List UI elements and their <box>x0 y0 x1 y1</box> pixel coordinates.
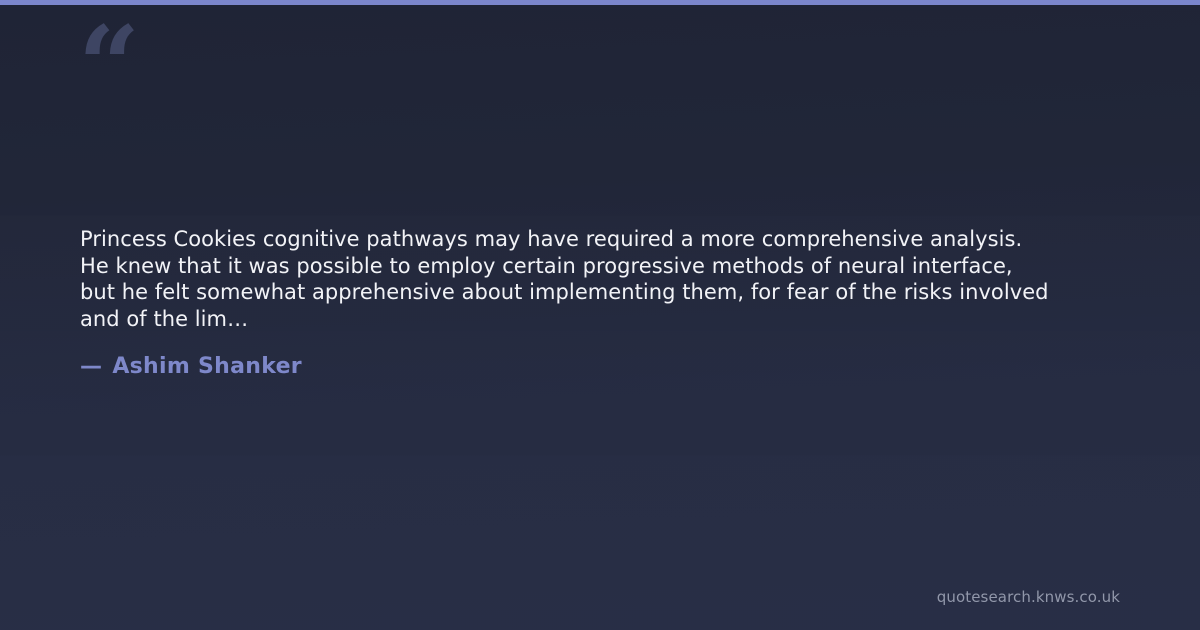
attribution-dash: — <box>80 354 102 379</box>
quote-card: “ Princess Cookies cognitive pathways ma… <box>0 0 1200 630</box>
top-accent-bar <box>0 0 1200 5</box>
quote-attribution: — Ashim Shanker <box>80 354 302 379</box>
quote-text: Princess Cookies cognitive pathways may … <box>80 226 1124 332</box>
site-url-label: quotesearch.knws.co.uk <box>937 588 1120 606</box>
quotation-mark-icon: “ <box>78 12 136 120</box>
quote-body: Princess Cookies cognitive pathways may … <box>80 226 1124 332</box>
attribution-author-name: Ashim Shanker <box>112 354 302 379</box>
